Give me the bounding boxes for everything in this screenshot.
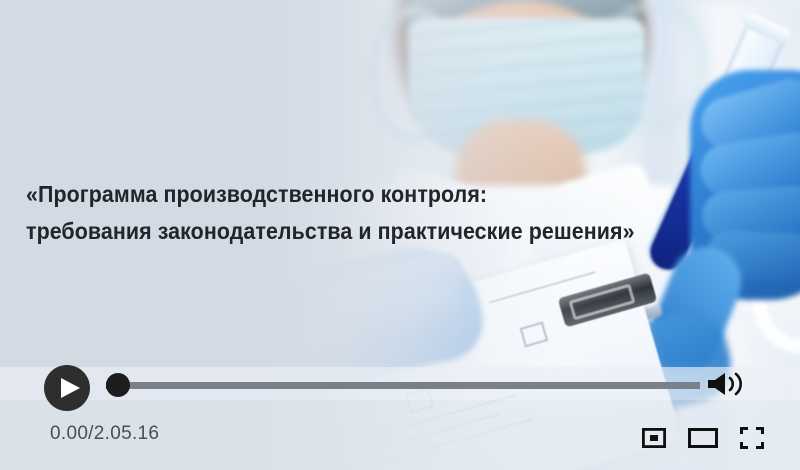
- play-button[interactable]: [44, 365, 90, 411]
- play-icon: [61, 378, 80, 398]
- seek-handle[interactable]: [106, 373, 130, 397]
- title-line-1: «Программа производственного контроля:: [26, 176, 584, 213]
- player-actions: [642, 427, 764, 454]
- picture-in-picture-icon: [642, 428, 666, 448]
- title-line-2: требования законодательства и практическ…: [26, 213, 584, 250]
- fullscreen-button[interactable]: [740, 427, 764, 454]
- video-player[interactable]: «Программа производственного контроля: т…: [0, 0, 800, 470]
- picture-in-picture-button[interactable]: [642, 428, 666, 453]
- seek-bar[interactable]: [106, 382, 700, 389]
- timecode-display: 0.00/2.05.16: [50, 423, 159, 445]
- theater-mode-button[interactable]: [688, 428, 718, 453]
- fullscreen-icon: [740, 427, 764, 449]
- theater-mode-icon: [688, 428, 718, 448]
- speaker-icon: [706, 371, 754, 397]
- page-title: «Программа производственного контроля: т…: [26, 176, 584, 250]
- volume-button[interactable]: [706, 371, 754, 397]
